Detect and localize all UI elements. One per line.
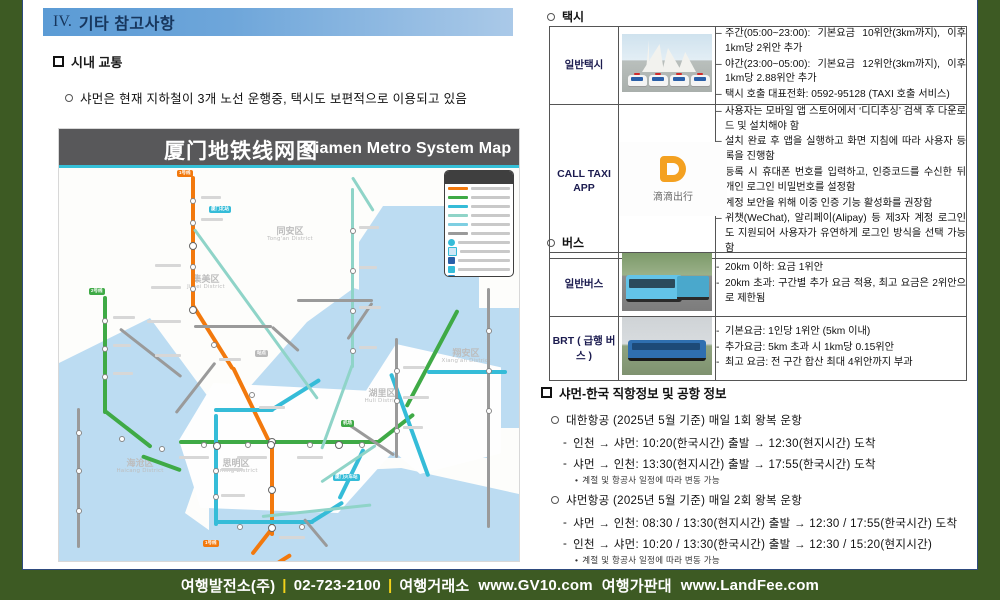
station-interchange [189,242,197,250]
station-dot [76,508,82,514]
list-item: –택시 호출 대표전화: 0592-95128 (TAXI 호출 서비스) [716,88,966,103]
section-heading-label: 시내 교통 [71,52,122,71]
station-interchange [267,441,275,449]
station-dot [486,408,492,414]
legend-row [445,247,513,256]
station-name-blip [201,218,223,221]
metro-line-1 [191,304,234,370]
station-name-blip [403,426,423,429]
station-name-blip [155,354,181,357]
station-name-blip [179,456,209,459]
map-canvas: 同安区 Tong'an District 集美区 Jimei District … [59,168,519,561]
title-numeral: IV. [53,13,72,31]
station-dot [245,442,251,448]
map-title-en: Xiamen Metro System Map [304,140,511,158]
slide-page: IV. 기타 참고사항 시내 교통 샤먼은 현재 지하철이 3개 노선 운행중,… [22,0,978,570]
table-row: 일반택시 –주간(05:00~23:00): 기본요금 10위안(3km까 [550,27,967,105]
station-interchange [268,486,276,494]
metro-line-3 [214,409,274,413]
bullet-city-transport: 샤먼은 현재 지하철이 3개 노선 운행중, 택시도 보편적으로 이용되고 있음 [65,88,467,107]
list-item: –사용자는 모바일 앱 스토어에서 ‘디디추싱’ 검색 후 다운로드 및 설치해… [716,105,966,135]
footer-separator: | [388,577,392,594]
metro-line-2 [179,441,379,445]
footer-phone: 02-723-2100 [294,577,381,594]
taxi-photo-image [622,34,712,92]
station-dot [359,442,365,448]
flight-route-0-1: -샤먼 → 인천: 13:30(현지시간) 출발 → 17:55(한국시간) 도… [563,456,876,472]
brt-bus-photo [619,317,716,381]
legend-row [445,265,513,274]
facility-marker: 机场 [341,420,354,427]
metro-line-grey [297,299,373,302]
station-dot [350,348,356,354]
metro-line-planned [193,229,318,400]
station-dot [299,524,305,530]
legend-row [445,238,513,247]
station-name-blip [359,306,381,309]
heading-taxi: 택시 [547,8,584,25]
station-dot [201,442,207,448]
station-name-blip [403,396,429,399]
list-item: –계정 보안을 위해 이중 인증 기능 활성화를 권장함 [716,197,966,212]
station-name-blip [147,320,181,323]
station-dot [249,392,255,398]
station-dot [394,398,400,404]
station-name-blip [359,346,377,349]
station-interchange [335,441,343,449]
flight-route-1-1: -인천 → 샤먼: 10:20 / 13:30(한국시간) 출발 → 12:30… [563,536,932,552]
station-dot [394,368,400,374]
station-name-blip [219,358,241,361]
station-name-blip [237,456,267,459]
station-dot [350,268,356,274]
station-name-blip [221,494,245,497]
square-bullet-icon [53,56,64,67]
metro-line-3 [427,371,507,375]
station-dot [190,220,196,226]
flight-airline-1: 샤먼항공 (2025년 5월 기준) 매일 2회 왕복 운항 [551,492,802,508]
brt-bus-image [622,317,712,375]
metro-line-3 [214,521,314,525]
table-row: BRT ( 급행 버스 ) -기본요금: 1인당 1위안 (5km 이내) -추… [550,317,967,381]
heading-flights-label: 샤먼-한국 직항정보 및 공항 정보 [559,383,727,402]
list-item: -추가요금: 5km 초과 시 1km당 0.15위안 [716,341,966,356]
flight-airline-0-label: 대한항공 (2025년 5월 기준) 매일 1회 왕복 운항 [566,412,802,428]
station-name-blip [359,226,379,229]
section-heading-city-transport: 시내 교통 [53,52,122,71]
legend-row [445,211,513,220]
station-dot [76,430,82,436]
station-name-blip [259,406,285,409]
district-label: 翔安区 Xiang'an District [431,350,501,365]
taxi-photo [619,27,716,105]
legend-row [445,274,513,277]
flight-note-0: •계절 및 항공사 일정에 따라 변동 가능 [575,474,720,486]
list-item: -기본요금: 1인당 1위안 (5km 이내) [716,325,966,340]
legend-row [445,202,513,211]
bus-table: 일반버스 -20km 이하: 요금 1위안 -20km 초과: 구간별 추가 요… [549,252,967,381]
flight-note-1: •계절 및 항공사 일정에 따라 변동 가능 [575,554,720,566]
legend-row [445,229,513,238]
table-row: CALL TAXI APP 滴滴出行 –사용자는 모바일 앱 스토어에서 ‘디디… [550,104,967,258]
station-dot [102,374,108,380]
station-dot [307,442,313,448]
circle-bullet-icon [551,416,559,424]
right-column: 택시 일반택시 –주간 [523,0,978,570]
footer-brand-1: 여행거래소 [399,575,469,596]
circle-bullet-icon [551,496,559,504]
station-dot [190,264,196,270]
facility-marker: 站点 [255,350,268,357]
brt-row-details: -기본요금: 1인당 1위안 (5km 이내) -추가요금: 5km 초과 시 … [716,317,967,381]
line-terminus-tag: 2号线 [89,288,105,295]
metro-line-2 [103,296,107,414]
map-legend [444,170,514,277]
legend-row [445,256,513,265]
list-item: –위챗(WeChat), 알리페이(Alipay) 등 제3자 계정 로그인도 … [716,212,966,256]
flight-airline-0: 대한항공 (2025년 5월 기준) 매일 1회 왕복 운항 [551,412,802,428]
legend-row [445,220,513,229]
footer-url-1[interactable]: www.GV10.com [478,577,592,594]
list-item: –등록 시 휴대폰 번호를 입력하고, 인증코드를 수신한 뒤 개인 로그인 비… [716,166,966,196]
station-dot [211,342,217,348]
line-station-tag: 厦门火车站 [333,474,360,481]
station-dot [237,524,243,530]
flight-airline-1-label: 샤먼항공 (2025년 5월 기준) 매일 2회 왕복 운항 [566,492,802,508]
facility-marker: 厦门北站 [209,206,231,213]
station-name-blip [403,366,425,369]
station-dot [350,228,356,234]
station-interchange [189,306,197,314]
didi-wordmark: 滴滴出行 [619,188,727,203]
didi-d-icon [660,156,686,182]
taxi-table: 일반택시 –주간(05:00~23:00): 기본요금 10위안(3km까 [549,26,967,259]
station-dot [394,428,400,434]
xiamen-metro-map: 厦门地铁线网图 Xiamen Metro System Map 同安区 Tong… [58,128,520,562]
list-item: –설치 완료 후 앱을 실행하고 화면 지침에 따라 사용자 등록을 진행함 [716,135,966,165]
map-header-bar: 厦门地铁线网图 Xiamen Metro System Map [59,129,519,165]
calltaxi-row-details: –사용자는 모바일 앱 스토어에서 ‘디디추싱’ 검색 후 다운로드 및 설치해… [716,104,967,258]
station-interchange [213,442,221,450]
station-name-blip [221,468,243,471]
flight-route-0-0: -인천 → 샤먼: 10:20(한국시간) 출발 → 12:30(현지시간) 도… [563,435,876,451]
heading-taxi-label: 택시 [562,8,584,25]
station-dot [76,468,82,474]
station-interchange [268,524,276,532]
station-name-blip [151,286,181,289]
station-name-blip [113,316,135,319]
legend-row [445,193,513,202]
footer-separator: | [282,577,286,594]
station-name-blip [155,264,181,267]
metro-line-grey [77,408,80,548]
station-name-blip [297,456,323,459]
brt-row-label: BRT ( 급행 버스 ) [550,317,619,381]
taxi-row-details: –주간(05:00~23:00): 기본요금 10위안(3km까지), 이후 1… [716,27,967,105]
station-dot [213,468,219,474]
station-dot [102,346,108,352]
circle-bullet-icon [547,239,555,247]
citybus-row-label: 일반버스 [550,253,619,317]
list-item: -20km 이하: 요금 1위안 [716,261,966,276]
metro-line-planned [351,188,354,368]
station-dot [486,368,492,374]
metro-line-grey [194,325,272,328]
square-bullet-icon [541,387,552,398]
list-item: -최고 요금: 전 구간 합산 최대 4위안까지 부과 [716,356,966,371]
list-item: –주간(05:00~23:00): 기본요금 10위안(3km까지), 이후 1… [716,27,966,57]
heading-bus: 버스 [547,234,584,251]
circle-bullet-icon [547,13,555,21]
map-title-cn: 厦门地铁线网图 [164,135,318,165]
footer-company: 여행발전소(주) [181,575,275,596]
city-bus-photo [619,253,716,317]
station-dot [350,308,356,314]
footer-bar: 여행발전소(주) | 02-723-2100 | 여행거래소 www.GV10.… [0,570,1000,600]
district-label: 同安区 Tong'an District [255,228,325,243]
station-dot [213,494,219,500]
didi-logo-image: 滴滴出行 [619,142,727,216]
station-dot [119,436,125,442]
flight-route-1-0: -샤먼 → 인천: 08:30 / 13:30(현지시간) 출발 → 12:30… [563,515,957,531]
line-terminus-tag: 1号线 [177,170,193,177]
didi-logo: 滴滴出行 [619,104,716,258]
city-bus-image [622,253,712,311]
line-terminus-tag: 1号线 [203,540,219,547]
station-dot [486,328,492,334]
bullet-city-transport-text: 샤먼은 현재 지하철이 3개 노선 운행중, 택시도 보편적으로 이용되고 있음 [80,88,467,107]
station-dot [159,446,165,452]
station-dot [190,286,196,292]
heading-bus-label: 버스 [562,234,584,251]
station-name-blip [359,266,377,269]
legend-header [445,171,513,184]
station-name-blip [113,372,133,375]
list-item: –야간(23:00~05:00): 기본요금 12위안(3km까지), 이후 1… [716,58,966,88]
station-name-blip [113,344,131,347]
heading-flights: 샤먼-한국 직항정보 및 공항 정보 [541,383,727,402]
list-item: -20km 초과: 구간별 추가 요금 적용, 최고 요금은 2위안으로 제한됨 [716,277,966,307]
left-column: IV. 기타 참고사항 시내 교통 샤먼은 현재 지하철이 3개 노선 운행중,… [23,0,523,570]
table-row: 일반버스 -20km 이하: 요금 1위안 -20km 초과: 구간별 추가 요… [550,253,967,317]
taxi-row-label: 일반택시 [550,27,619,105]
page-title: IV. 기타 참고사항 [43,8,513,36]
station-name-blip [201,196,221,199]
station-name-blip [279,536,305,539]
title-text: 기타 참고사항 [79,10,175,34]
station-dot [102,318,108,324]
footer-url-2[interactable]: www.LandFee.com [681,577,819,594]
footer-brand-2: 여행가판대 [602,575,672,596]
circle-bullet-icon [65,94,73,102]
metro-line-planned [351,177,374,212]
legend-row [445,184,513,193]
station-dot [190,198,196,204]
citybus-row-details: -20km 이하: 요금 1위안 -20km 초과: 구간별 추가 요금 적용,… [716,253,967,317]
